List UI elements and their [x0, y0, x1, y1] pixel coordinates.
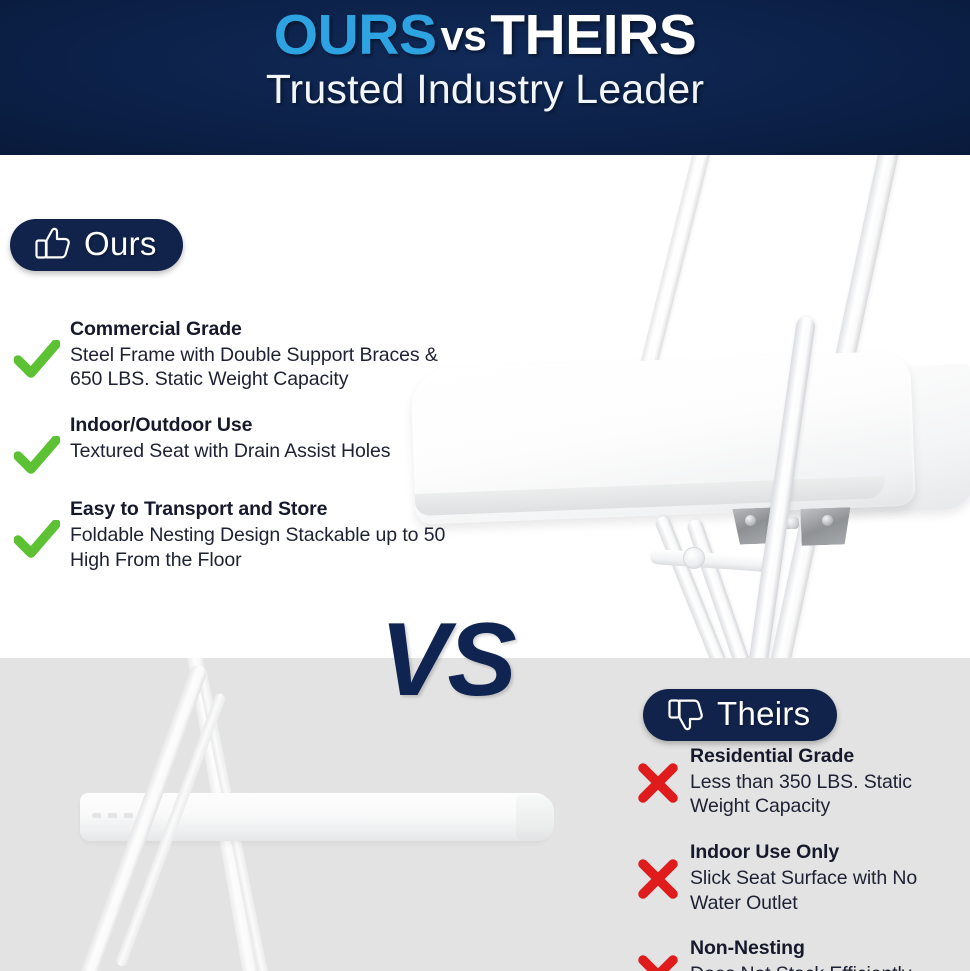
green-check-icon: [8, 498, 66, 560]
feature-text: Residential Grade Less than 350 LBS. Sta…: [686, 745, 970, 819]
red-x-icon: [630, 937, 686, 971]
thumbs-up-icon: [32, 226, 72, 262]
feature-title: Commercial Grade: [70, 318, 448, 342]
vs-divider-label: VS: [380, 608, 515, 712]
feature-text: Commercial Grade Steel Frame with Double…: [66, 318, 448, 392]
feature-description: Does Not Stack Efficiently: [690, 962, 970, 971]
green-check-icon: [8, 414, 66, 476]
chair-bracket-right: [800, 507, 851, 546]
ours-badge-label: Ours: [84, 225, 157, 263]
feature-title: Indoor/Outdoor Use: [70, 414, 448, 438]
list-item: Residential Grade Less than 350 LBS. Sta…: [630, 745, 970, 819]
feature-text: Indoor Use Only Slick Seat Surface with …: [686, 841, 970, 915]
title-theirs: THEIRS: [490, 3, 696, 67]
chair-drain-holes: [92, 813, 140, 818]
feature-description: Textured Seat with Drain Assist Holes: [70, 439, 448, 464]
list-item: Non-Nesting Does Not Stack Efficiently: [630, 937, 970, 971]
chair-pivot-icon: [683, 547, 705, 569]
red-x-icon: [630, 745, 686, 803]
title-ours: OURS: [274, 3, 437, 67]
folding-chair-image-top: [395, 155, 970, 658]
title-vs: vs: [440, 12, 486, 59]
page-subtitle: Trusted Industry Leader: [0, 66, 970, 113]
chair-seat-end: [516, 795, 554, 841]
feature-title: Non-Nesting: [690, 937, 970, 961]
theirs-feature-list: Residential Grade Less than 350 LBS. Sta…: [630, 745, 970, 971]
feature-title: Indoor Use Only: [690, 841, 970, 865]
chair-rivet: [745, 515, 756, 526]
green-check-icon: [8, 318, 66, 380]
feature-description: Slick Seat Surface with No Water Outlet: [690, 866, 970, 915]
feature-text: Easy to Transport and Store Foldable Nes…: [66, 498, 448, 572]
list-item: Commercial Grade Steel Frame with Double…: [8, 318, 448, 392]
list-item: Easy to Transport and Store Foldable Nes…: [8, 498, 448, 572]
theirs-badge[interactable]: Theirs: [643, 689, 837, 741]
feature-title: Residential Grade: [690, 745, 970, 769]
theirs-badge-label: Theirs: [717, 695, 811, 733]
list-item: Indoor/Outdoor Use Textured Seat with Dr…: [8, 414, 448, 476]
page-title: OURSvsTHEIRS: [0, 6, 970, 66]
thumbs-down-icon: [665, 696, 705, 732]
comparison-infographic: OURSvsTHEIRS Trusted Industry Leader V: [0, 0, 970, 971]
feature-description: Steel Frame with Double Support Braces &…: [70, 343, 448, 392]
feature-description: Less than 350 LBS. Static Weight Capacit…: [690, 770, 970, 819]
feature-description: Foldable Nesting Design Stackable up to …: [70, 523, 448, 572]
header-banner: OURSvsTHEIRS Trusted Industry Leader: [0, 0, 970, 155]
feature-title: Easy to Transport and Store: [70, 498, 448, 522]
chair-rivet: [822, 515, 833, 526]
ours-feature-list: Commercial Grade Steel Frame with Double…: [8, 318, 448, 594]
ours-badge[interactable]: Ours: [10, 219, 183, 271]
list-item: Indoor Use Only Slick Seat Surface with …: [630, 841, 970, 915]
red-x-icon: [630, 841, 686, 899]
feature-text: Indoor/Outdoor Use Textured Seat with Dr…: [66, 414, 448, 463]
feature-text: Non-Nesting Does Not Stack Efficiently: [686, 937, 970, 971]
